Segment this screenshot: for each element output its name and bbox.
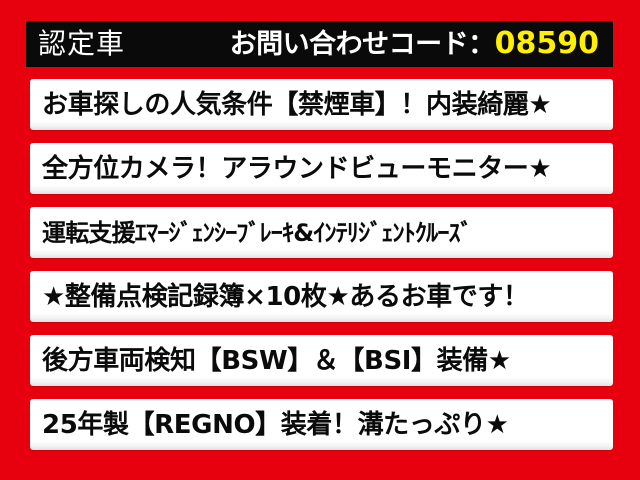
inquiry-code-value: 08590 xyxy=(495,29,599,59)
promo-banner: 認定車 お問い合わせコード： 08590 お車探しの人気条件【禁煙車】！内装綺麗… xyxy=(0,0,640,480)
feature-row-text: 全方位カメラ！アラウンドビューモニター★ xyxy=(42,156,603,182)
feature-row: 25年製【REGNO】装着！溝たっぷり★ xyxy=(30,399,613,450)
feature-row: 運転支援ｴﾏｰｼﾞｪﾝｼｰﾌﾞﾚｰｷ&ｲﾝﾃﾘｼﾞｪﾝﾄｸﾙｰｽﾞ xyxy=(30,207,613,258)
header-bar: 認定車 お問い合わせコード： 08590 xyxy=(26,21,613,67)
feature-row: お車探しの人気条件【禁煙車】！内装綺麗★ xyxy=(30,79,613,130)
inquiry-code-label: お問い合わせコード： xyxy=(230,31,495,58)
certified-car-label: 認定車 xyxy=(38,30,125,58)
feature-row-text: 運転支援ｴﾏｰｼﾞｪﾝｼｰﾌﾞﾚｰｷ&ｲﾝﾃﾘｼﾞｪﾝﾄｸﾙｰｽﾞ xyxy=(42,221,603,245)
feature-row-text: 後方車両検知【BSW】＆【BSI】装備★ xyxy=(42,348,603,374)
feature-row-text: ★整備点検記録簿×10枚★あるお車です！ xyxy=(42,284,603,310)
feature-list: お車探しの人気条件【禁煙車】！内装綺麗★ 全方位カメラ！アラウンドビューモニター… xyxy=(30,79,613,463)
feature-row-text: 25年製【REGNO】装着！溝たっぷり★ xyxy=(42,412,603,438)
inquiry-code-group: お問い合わせコード： 08590 xyxy=(230,29,599,59)
feature-row-text: お車探しの人気条件【禁煙車】！内装綺麗★ xyxy=(42,92,603,118)
feature-row: 後方車両検知【BSW】＆【BSI】装備★ xyxy=(30,335,613,386)
feature-row: ★整備点検記録簿×10枚★あるお車です！ xyxy=(30,271,613,322)
feature-row: 全方位カメラ！アラウンドビューモニター★ xyxy=(30,143,613,194)
